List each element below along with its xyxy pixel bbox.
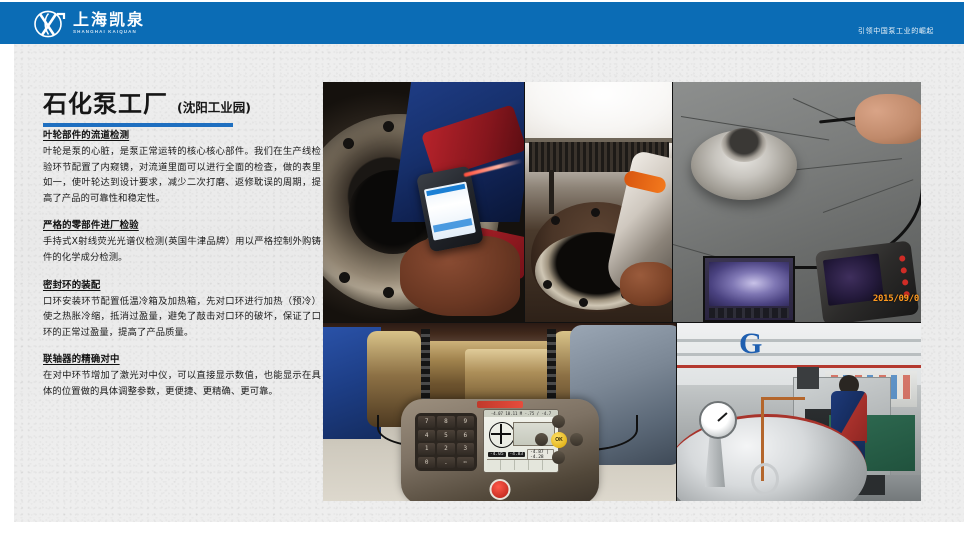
section-heading: 密封环的装配: [43, 277, 321, 291]
bolt-hole: [579, 298, 588, 307]
inset-keypad: [709, 308, 789, 318]
borescope-monitor: [815, 240, 919, 322]
keypad-key[interactable]: 0: [418, 457, 435, 469]
bolt-hole: [383, 121, 394, 132]
section-body: 在对中环节增加了激光对中仪，可以直接显示数值，也能显示在具体的位置做的具体调整参…: [43, 368, 321, 399]
brand-logo: 上海凯泉 SHANGHAI KAIQUAN: [33, 9, 145, 38]
photo-laser-shaft-alignment: 7 8 9 4 5 6 1 2 3 0 . ✂: [323, 323, 676, 501]
text-sections: 叶轮部件的流道检测 叶轮是泵的心脏，是泵正常运转的核心核心部件。我们在生产线检验…: [43, 127, 321, 411]
ceiling-beam: [677, 353, 921, 356]
section-heading: 联轴器的精确对中: [43, 351, 321, 365]
bolt-hole: [339, 272, 350, 283]
rack-leg: [549, 170, 554, 214]
photo-collage: 2015/09/0: [323, 82, 921, 501]
brand-logo-text: 上海凯泉 SHANGHAI KAIQUAN: [73, 12, 145, 35]
brand-name-en: SHANGHAI KAIQUAN: [73, 30, 145, 35]
inset-flow-passage-image: [709, 262, 789, 306]
top-header-bar: 上海凯泉 SHANGHAI KAIQUAN 引领中国泵工业的崛起: [0, 2, 964, 44]
title-row: 石化泵工厂 (沈阳工业园): [43, 84, 318, 119]
tool-brand-strip: [477, 401, 523, 408]
keypad-key[interactable]: ✂: [457, 457, 474, 469]
photo-workshop-heating-chamber: G: [677, 323, 921, 501]
kaiquan-logo-icon: [33, 10, 67, 38]
photo-flange-handheld-scanner: [323, 82, 524, 322]
power-button[interactable]: [490, 479, 511, 500]
bolt-hole: [543, 280, 552, 289]
keypad-key[interactable]: 2: [437, 443, 454, 455]
bottom-white-margin: [0, 522, 964, 544]
title-main: 石化泵工厂: [43, 84, 168, 119]
section-heading: 严格的零部件进厂检验: [43, 217, 321, 231]
alignment-crosshair-icon: [489, 422, 515, 448]
keypad-key[interactable]: 6: [457, 430, 474, 442]
value-left-secondary: -4.83: [508, 452, 526, 457]
section-body: 口环安装环节配置低温冷箱及加热箱，先对口环进行加热（预冷）使之热胀冷缩，抵消过盈…: [43, 294, 321, 341]
value-left-primary: -4.05: [488, 452, 506, 457]
slide-root: 上海凯泉 SHANGHAI KAIQUAN 引领中国泵工业的崛起 石化泵工厂 (…: [0, 0, 964, 544]
section-seal-ring-assembly: 密封环的装配 口环安装环节配置低温冷箱及加热箱，先对口环进行加热（预冷）使之热胀…: [43, 277, 321, 341]
chamber-control-box: [797, 367, 819, 389]
monitor-button: [900, 267, 907, 274]
bolt-hole: [343, 138, 354, 149]
section-coupling-alignment: 联轴器的精确对中 在对中环节增加了激光对中仪，可以直接显示数值，也能显示在具体的…: [43, 351, 321, 399]
impeller-hub: [721, 128, 767, 162]
workshop-sign-letter: G: [739, 329, 762, 359]
tool-keypad[interactable]: 7 8 9 4 5 6 1 2 3 0 . ✂: [415, 413, 477, 471]
photo-image: G: [677, 323, 921, 501]
bolt-hole: [383, 287, 394, 298]
worker-hand: [620, 262, 672, 306]
photo-impeller-borescope: 2015/09/0: [673, 82, 921, 322]
keypad-key[interactable]: 4: [418, 430, 435, 442]
page-title: 石化泵工厂 (沈阳工业园): [43, 84, 318, 127]
keypad-key[interactable]: 3: [457, 443, 474, 455]
photo-image: 2015/09/0: [673, 82, 921, 322]
ceiling-beam: [677, 339, 921, 342]
lifting-ring: [751, 463, 779, 495]
keypad-key[interactable]: 5: [437, 430, 454, 442]
pressure-gauge: [699, 401, 737, 439]
nav-down-button[interactable]: [552, 451, 565, 464]
nav-left-button[interactable]: [535, 433, 548, 446]
left-white-margin: [0, 44, 14, 544]
section-incoming-parts-inspection: 严格的零部件进厂检验 手持式X射线荧光光谱仪检测(英国牛津品牌）用以严格控制外购…: [43, 217, 321, 265]
photo-timestamp: 2015/09/0: [873, 294, 919, 304]
title-subtitle: (沈阳工业园): [177, 97, 251, 116]
ok-button[interactable]: OK: [551, 432, 567, 448]
collage-row-bottom: 7 8 9 4 5 6 1 2 3 0 . ✂: [323, 323, 921, 501]
keypad-key[interactable]: 1: [418, 443, 435, 455]
operator-hand: [855, 94, 921, 144]
photo-image: 7 8 9 4 5 6 1 2 3 0 . ✂: [323, 323, 676, 501]
bolt-hole: [591, 208, 600, 217]
copper-tube: [761, 397, 805, 400]
section-impeller-inspection: 叶轮部件的流道检测 叶轮是泵的心脏，是泵正常运转的核心核心部件。我们在生产线检验…: [43, 127, 321, 206]
bolt-hole: [551, 216, 560, 225]
photo-casing-xrf-analyzer: [525, 82, 672, 322]
scanner-screen: [424, 181, 476, 240]
monitor-button: [902, 279, 909, 286]
keypad-key[interactable]: .: [437, 457, 454, 469]
tool-navigation-buttons[interactable]: OK: [533, 415, 585, 467]
section-body: 手持式X射线荧光光谱仪检测(英国牛津品牌）用以严格控制外购铸件的化学成分检测。: [43, 234, 321, 265]
laser-alignment-tool: 7 8 9 4 5 6 1 2 3 0 . ✂: [401, 399, 599, 501]
keypad-key[interactable]: 9: [457, 416, 474, 428]
gauge-needle: [717, 412, 727, 422]
borescope-inset-view: [703, 256, 795, 322]
photo-image: [525, 82, 672, 322]
keypad-key[interactable]: 7: [418, 416, 435, 428]
collage-row-top: 2015/09/0: [323, 82, 921, 322]
section-body: 叶轮是泵的心脏，是泵正常运转的核心核心部件。我们在生产线检验环节配置了内窥镜，对…: [43, 144, 321, 206]
brand-name-cn: 上海凯泉: [73, 12, 145, 28]
nav-up-button[interactable]: [552, 415, 565, 428]
section-heading: 叶轮部件的流道检测: [43, 127, 321, 141]
monitor-button: [899, 255, 906, 262]
worker-hand: [400, 236, 520, 316]
photo-image: [323, 82, 524, 322]
keypad-key[interactable]: 8: [437, 416, 454, 428]
header-slogan: 引领中国泵工业的崛起: [858, 26, 934, 36]
nav-right-button[interactable]: [570, 433, 583, 446]
